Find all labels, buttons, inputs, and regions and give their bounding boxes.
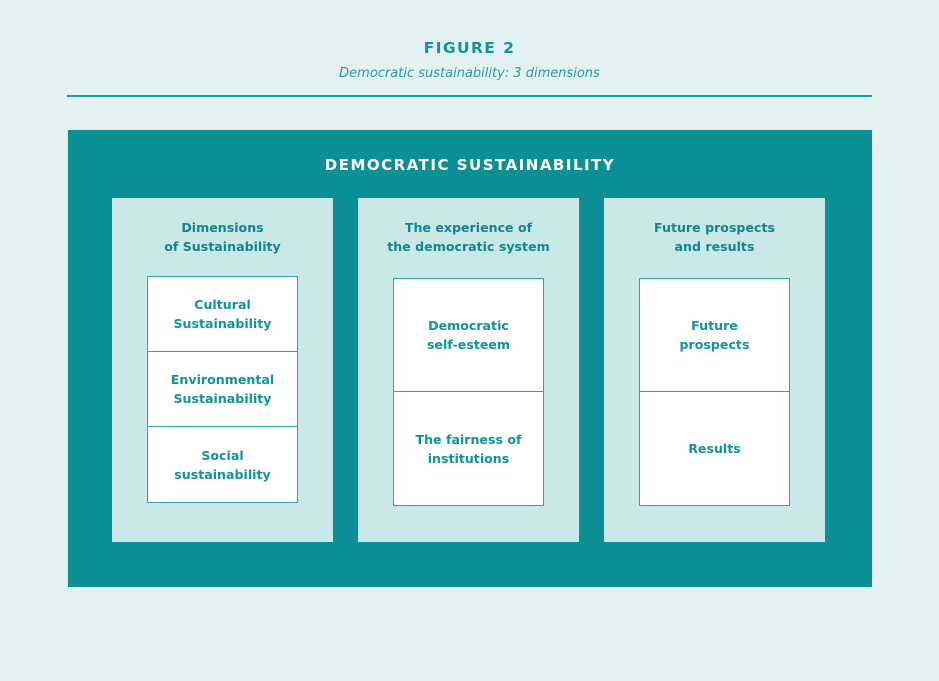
figure-subtitle: Democratic sustainability: 3 dimensions <box>0 64 939 84</box>
box-label-line-2: Sustainability <box>171 389 274 408</box>
box-stack: Cultural Sustainability Environmental Su… <box>147 276 298 503</box>
box-results: Results <box>640 392 789 505</box>
box-label-line-1: Results <box>688 439 741 458</box>
box-democratic-self-esteem: Democratic self-esteem <box>394 279 543 392</box>
column-title-line-2: of Sustainability <box>112 237 333 256</box>
box-cultural-sustainability: Cultural Sustainability <box>148 277 297 352</box>
box-fairness-of-institutions: The fairness of institutions <box>394 392 543 505</box>
box-stack: Democratic self-esteem The fairness of i… <box>393 278 544 506</box>
box-label-line-1: Cultural <box>173 295 271 314</box>
box-label-line-1: Environmental <box>171 370 274 389</box>
diagram-panel: DEMOCRATIC SUSTAINABILITY Dimensions of … <box>68 130 872 587</box>
box-label-line-1: Social <box>174 446 270 465</box>
column-title-line-2: and results <box>604 237 825 256</box>
box-label-line-1: The fairness of <box>415 430 521 449</box>
column-title: Future prospects and results <box>604 218 825 256</box>
diagram-columns: Dimensions of Sustainability Cultural Su… <box>112 198 825 542</box>
column-title-line-1: Future prospects <box>604 218 825 237</box>
box-label-line-2: prospects <box>680 335 750 354</box>
box-label-line-2: Sustainability <box>173 314 271 333</box>
column-title: The experience of the democratic system <box>358 218 579 256</box>
column-future-prospects-and-results: Future prospects and results Future pros… <box>604 198 825 542</box>
caption-divider-rule <box>67 95 872 97</box>
column-dimensions-of-sustainability: Dimensions of Sustainability Cultural Su… <box>112 198 333 542</box>
box-stack: Future prospects Results <box>639 278 790 506</box>
column-title-line-2: the democratic system <box>358 237 579 256</box>
figure-caption: FIGURE 2 Democratic sustainability: 3 di… <box>0 38 939 84</box>
box-label-line-1: Future <box>680 316 750 335</box>
box-social-sustainability: Social sustainability <box>148 427 297 502</box>
figure-label: FIGURE 2 <box>0 38 939 58</box>
box-future-prospects: Future prospects <box>640 279 789 392</box>
box-environmental-sustainability: Environmental Sustainability <box>148 352 297 427</box>
box-label-line-1: Democratic <box>427 316 510 335</box>
diagram-title: DEMOCRATIC SUSTAINABILITY <box>68 156 872 174</box>
box-label-line-2: sustainability <box>174 465 270 484</box>
box-label-line-2: self-esteem <box>427 335 510 354</box>
column-title-line-1: Dimensions <box>112 218 333 237</box>
column-title-line-1: The experience of <box>358 218 579 237</box>
box-label-line-2: institutions <box>415 449 521 468</box>
column-title: Dimensions of Sustainability <box>112 218 333 256</box>
column-experience-of-democratic-system: The experience of the democratic system … <box>358 198 579 542</box>
